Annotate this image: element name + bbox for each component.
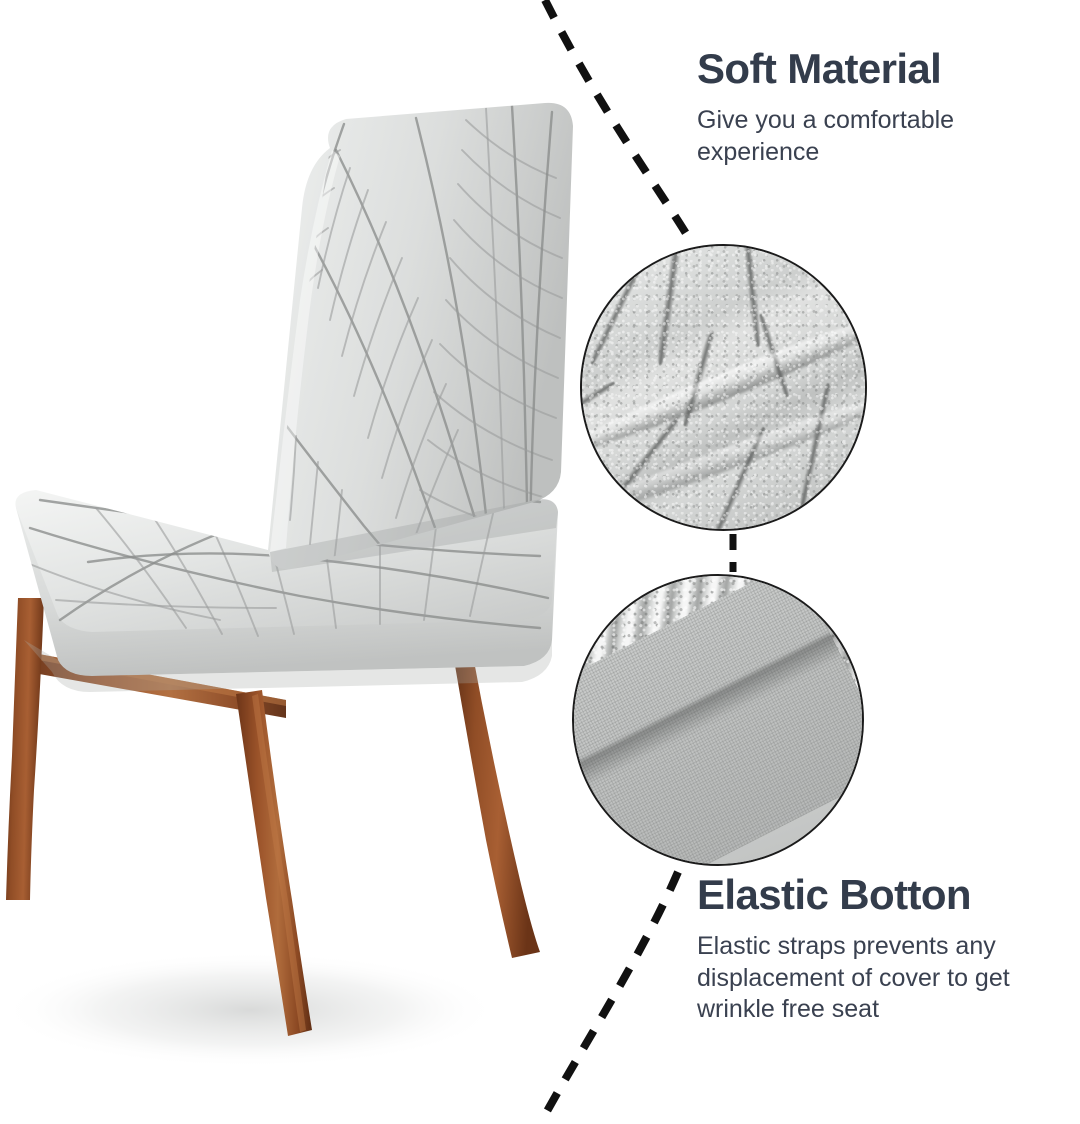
inset-circle-soft-material [580,244,867,531]
feature-description-soft-material: Give you a comfortable experience [697,105,1057,168]
elastic-hem-photo [572,574,864,866]
inset-circle-elastic-botton [572,574,864,866]
feature-block-elastic-botton: Elastic Botton Elastic straps prevents a… [697,872,1069,1026]
feature-title-soft-material: Soft Material [697,46,1057,91]
product-infographic-page: .vein { fill:none; stroke:#8b8d8c; strok… [0,0,1080,1124]
chair-leg-rear-right [452,640,540,958]
feature-block-soft-material: Soft Material Give you a comfortable exp… [697,46,1057,168]
feature-description-elastic-botton: Elastic straps prevents any displacement… [697,931,1069,1026]
floor-shadow [0,952,500,1068]
fleece-fabric-photo [580,244,867,531]
chair-illustration: .vein { fill:none; stroke:#8b8d8c; strok… [0,0,620,1124]
feature-title-elastic-botton: Elastic Botton [697,872,1069,917]
chair-leg-rear-left [6,598,44,900]
